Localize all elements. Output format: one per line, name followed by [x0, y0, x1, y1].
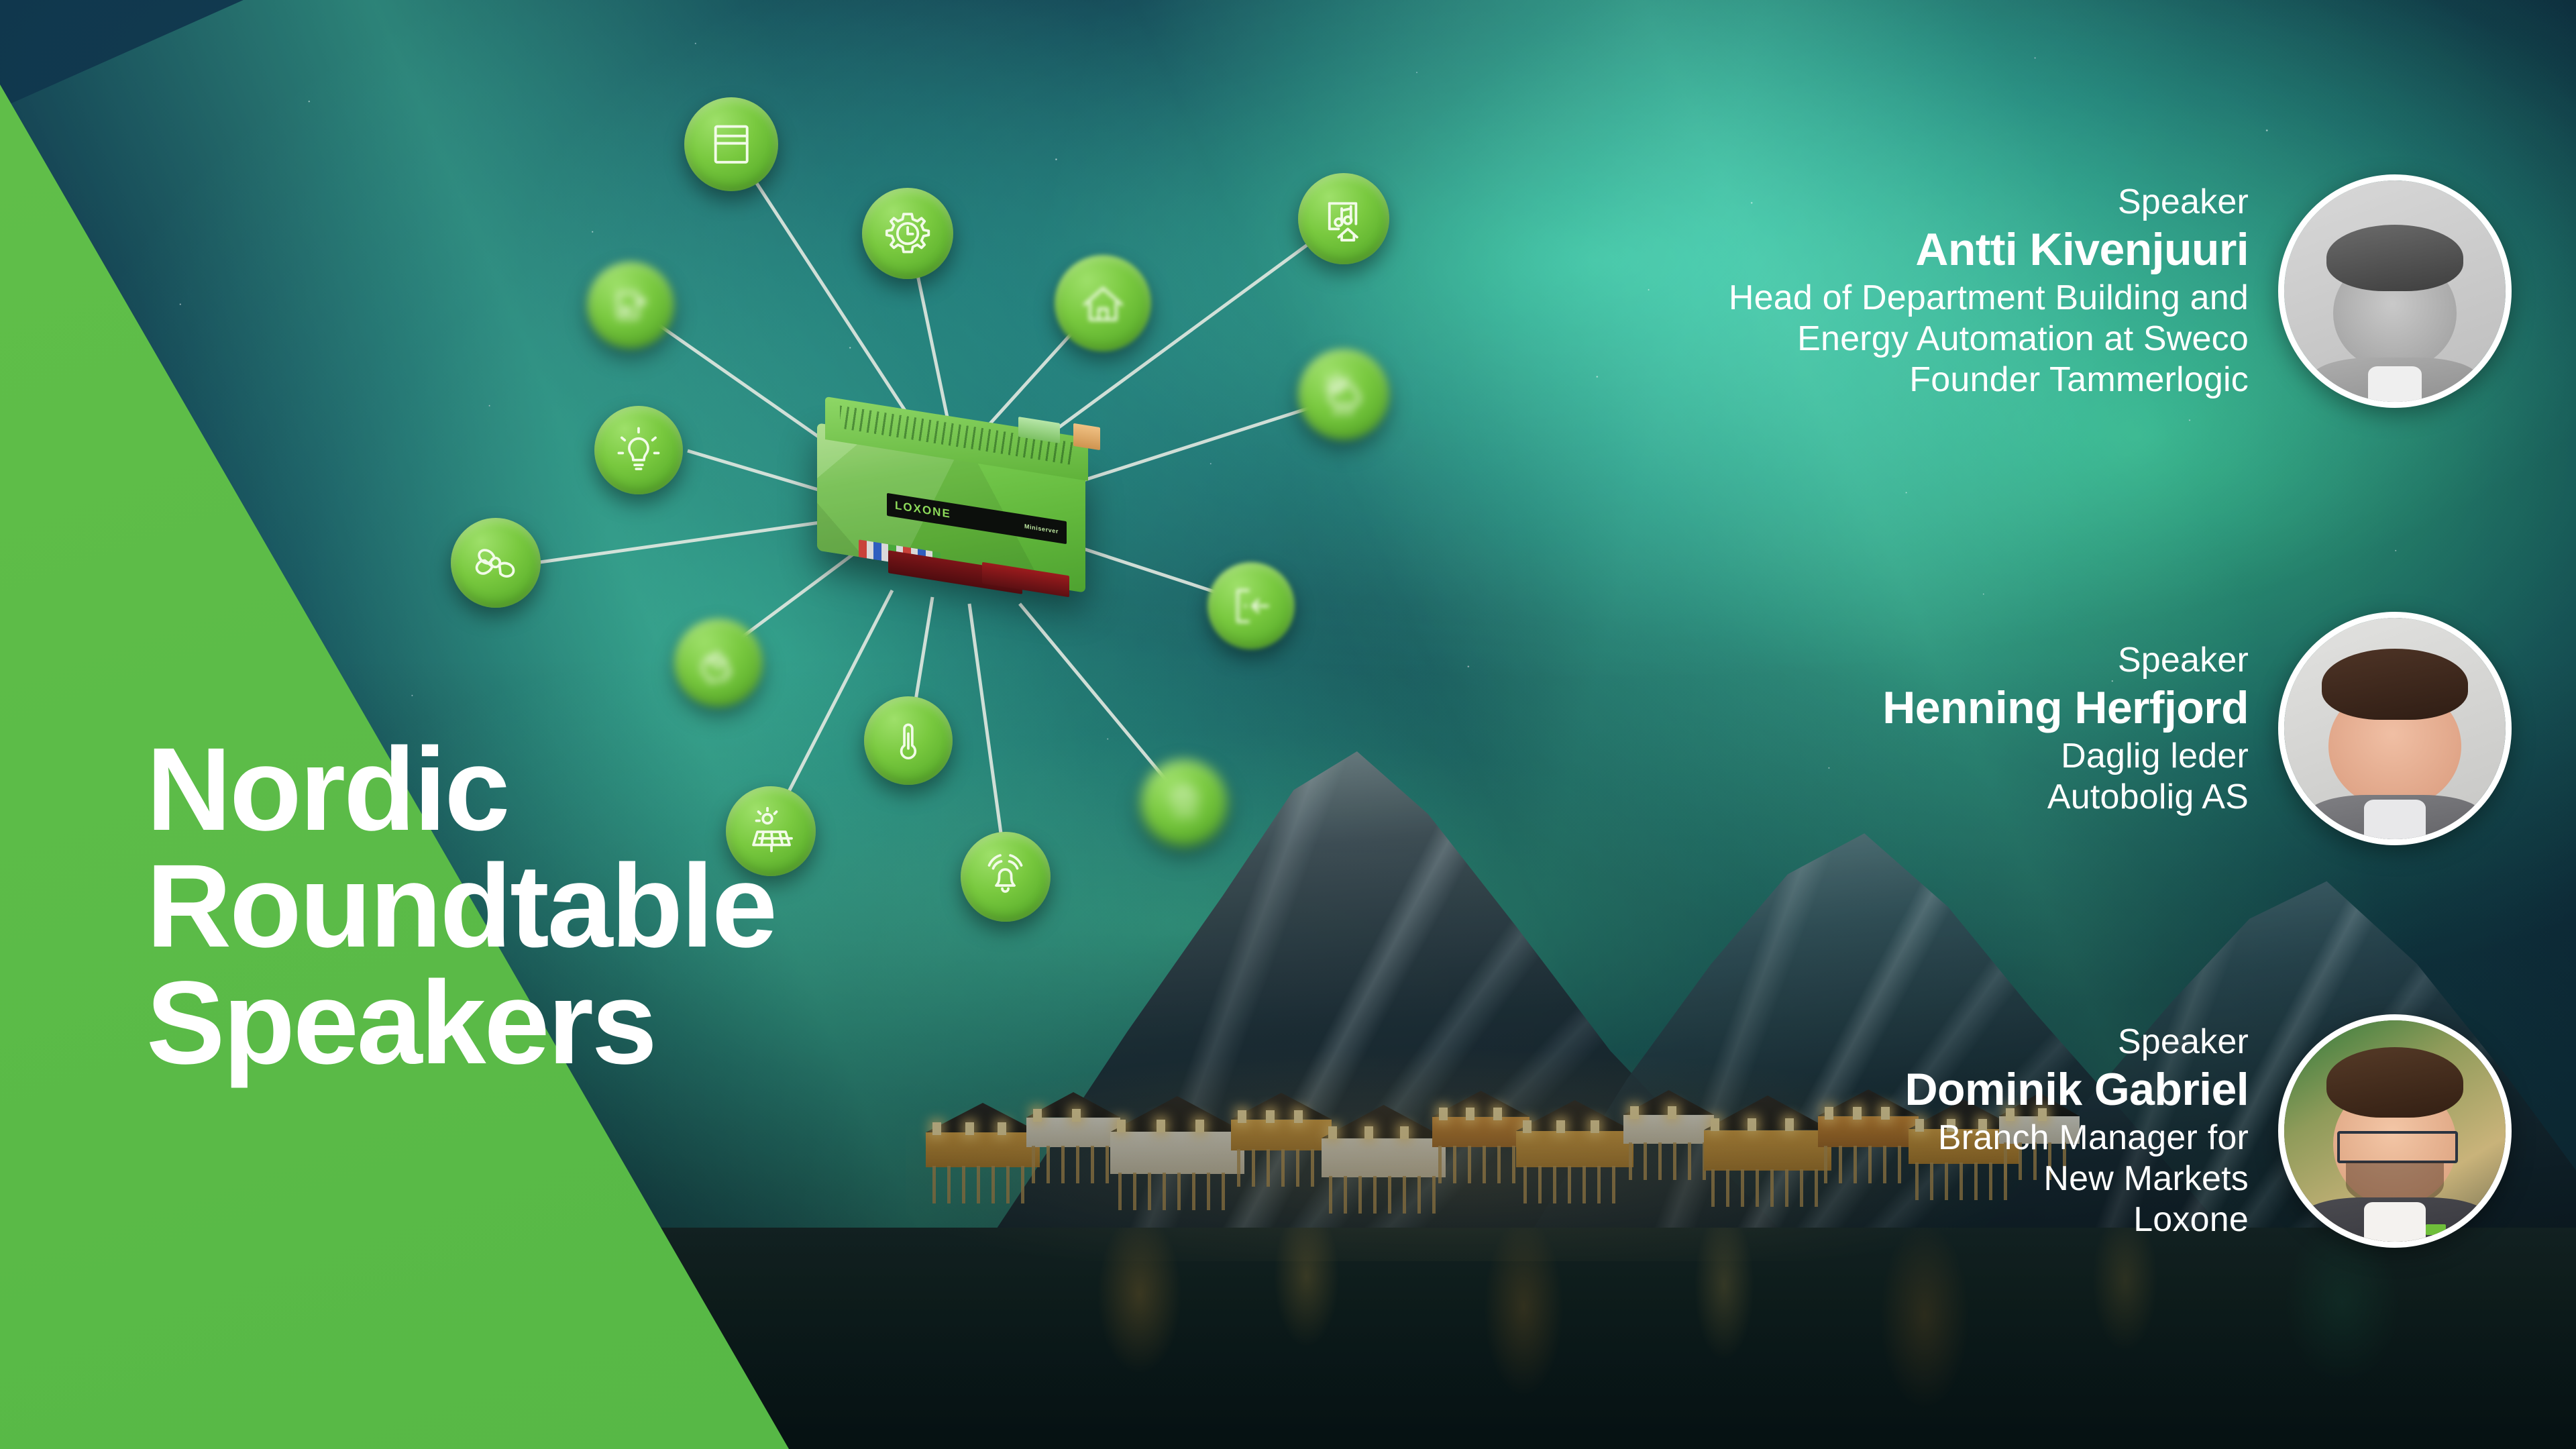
speaker-2-avatar	[2278, 612, 2512, 845]
avatar-shirt	[2364, 1202, 2426, 1248]
speaker-1-name: Antti Kivenjuuri	[1729, 223, 2249, 276]
door-access-icon[interactable]	[1207, 562, 1295, 649]
speaker-3-line-3: Loxone	[1905, 1199, 2249, 1240]
house-roof	[1110, 1096, 1244, 1132]
intercom-icon[interactable]	[587, 262, 674, 349]
village-house	[1623, 1090, 1714, 1144]
house-stilts	[1032, 1146, 1114, 1183]
house-window	[1748, 1118, 1756, 1131]
speaker-1-text: Speaker Antti Kivenjuuri Head of Departm…	[1729, 182, 2249, 400]
house-body	[1026, 1118, 1120, 1147]
house-window	[1117, 1120, 1126, 1132]
house-stilts	[1523, 1166, 1627, 1203]
house-window	[1157, 1120, 1165, 1132]
house-window	[1785, 1118, 1794, 1131]
house-window	[1493, 1108, 1502, 1120]
house-stilts	[1824, 1146, 1913, 1183]
house-stilts	[1629, 1142, 1709, 1180]
water-reflections	[906, 1228, 2576, 1449]
house-window	[1072, 1109, 1081, 1122]
speaker-1-avatar	[2278, 174, 2512, 408]
house-window	[1523, 1120, 1532, 1133]
speaker-3-role: Speaker	[1905, 1022, 2249, 1062]
house-body	[1704, 1130, 1831, 1171]
speaker-card-2: Speaker Henning Herfjord Daglig leder Au…	[1882, 612, 2512, 845]
avatar-glasses	[2337, 1131, 2458, 1163]
smart-head-icon[interactable]	[674, 619, 763, 707]
village-house	[1432, 1091, 1529, 1147]
house-window	[1668, 1106, 1676, 1119]
house-window	[1238, 1110, 1246, 1123]
village-house	[1231, 1093, 1332, 1150]
house-window	[1033, 1109, 1042, 1122]
speaker-2-name: Henning Herfjord	[1882, 682, 2249, 735]
house-stilts	[1237, 1149, 1326, 1187]
speaker-card-3: Speaker Dominik Gabriel Branch Manager f…	[1905, 1014, 2512, 1248]
avatar-loxone-pin	[2426, 1224, 2446, 1236]
avatar-shirt	[2364, 800, 2426, 845]
fan-icon[interactable]	[451, 518, 541, 608]
village-house	[1516, 1100, 1633, 1167]
avatar-collar	[2368, 366, 2421, 408]
house-window	[1294, 1110, 1303, 1123]
speaker-2-line-1: Daglig leder	[1882, 736, 2249, 777]
house-body	[1818, 1116, 1919, 1147]
speaker-3-name: Dominik Gabriel	[1905, 1063, 2249, 1116]
house-body	[1110, 1132, 1244, 1174]
speaker-2-text: Speaker Henning Herfjord Daglig leder Au…	[1882, 640, 2249, 818]
house-icon[interactable]	[1055, 255, 1151, 352]
village-house	[1818, 1089, 1919, 1147]
music-house-icon[interactable]	[1298, 173, 1389, 264]
house-stilts	[1438, 1146, 1524, 1183]
avatar-hair	[2322, 649, 2468, 720]
village-house	[1322, 1105, 1446, 1177]
house-body	[1231, 1120, 1332, 1150]
house-body	[926, 1132, 1040, 1167]
house-stilts	[932, 1166, 1033, 1203]
house-window	[1466, 1108, 1474, 1120]
village-house	[1110, 1096, 1244, 1174]
shower-icon[interactable]	[1140, 759, 1228, 847]
house-window	[1711, 1118, 1719, 1131]
house-roof	[1516, 1100, 1633, 1131]
house-roof	[1322, 1105, 1446, 1138]
speaker-3-line-2: New Markets	[1905, 1159, 2249, 1199]
house-window	[1630, 1106, 1639, 1119]
miniserver-brand-text: LOXONE	[895, 499, 951, 521]
speaker-3-line-1: Branch Manager for	[1905, 1118, 2249, 1159]
house-window	[1881, 1107, 1890, 1120]
house-body	[1432, 1117, 1529, 1147]
speaker-2-line-2: Autobolig AS	[1882, 777, 2249, 818]
speaker-1-role: Speaker	[1729, 182, 2249, 222]
house-stilts	[1118, 1173, 1236, 1210]
house-stilts	[1711, 1169, 1823, 1207]
avatar-hair	[2326, 1047, 2464, 1118]
lightbulb-icon[interactable]	[594, 406, 683, 494]
speaker-card-1: Speaker Antti Kivenjuuri Head of Departm…	[1729, 174, 2512, 408]
house-body	[1322, 1138, 1446, 1177]
house-window	[1266, 1110, 1275, 1123]
weather-icon[interactable]	[1298, 349, 1389, 440]
speaker-2-role: Speaker	[1882, 640, 2249, 680]
speaker-3-avatar	[2278, 1014, 2512, 1248]
house-roof	[1704, 1095, 1831, 1130]
house-body	[1516, 1131, 1633, 1167]
house-body	[1623, 1115, 1714, 1144]
terminal-orange	[1073, 423, 1100, 450]
title-line-3: Speakers	[146, 965, 1152, 1081]
gear-clock-icon[interactable]	[862, 188, 953, 279]
title-line-2: Roundtable	[146, 848, 1152, 965]
house-window	[1400, 1126, 1409, 1139]
speaker-1-line-1: Head of Department Building and	[1729, 278, 2249, 319]
miniserver-model-text: Miniserver	[1024, 523, 1059, 535]
speaker-1-line-3: Founder Tammerlogic	[1729, 360, 2249, 400]
village-house	[1704, 1095, 1831, 1171]
house-window	[965, 1122, 974, 1135]
promo-graphic: LOXONE Miniserver	[0, 0, 2576, 1449]
speaker-1-line-2: Energy Automation at Sweco	[1729, 319, 2249, 360]
house-stilts	[1329, 1176, 1438, 1214]
blinds-icon[interactable]	[684, 97, 778, 191]
house-window	[1556, 1120, 1565, 1133]
title-line-1: Nordic	[146, 731, 1152, 848]
speaker-3-text: Speaker Dominik Gabriel Branch Manager f…	[1905, 1022, 2249, 1240]
house-window	[1825, 1107, 1833, 1120]
house-roof	[926, 1103, 1040, 1132]
house-window	[1364, 1126, 1373, 1139]
house-window	[1591, 1120, 1599, 1133]
house-window	[1439, 1108, 1448, 1120]
village-house	[926, 1103, 1040, 1167]
house-window	[1853, 1107, 1862, 1120]
village-house	[1026, 1092, 1120, 1147]
house-window	[932, 1122, 941, 1135]
loxone-miniserver: LOXONE Miniserver	[817, 402, 1106, 604]
avatar-hair	[2326, 225, 2464, 291]
house-window	[1195, 1120, 1204, 1132]
page-title: Nordic Roundtable Speakers	[146, 731, 1152, 1082]
house-window	[1328, 1126, 1337, 1139]
house-window	[998, 1122, 1006, 1135]
